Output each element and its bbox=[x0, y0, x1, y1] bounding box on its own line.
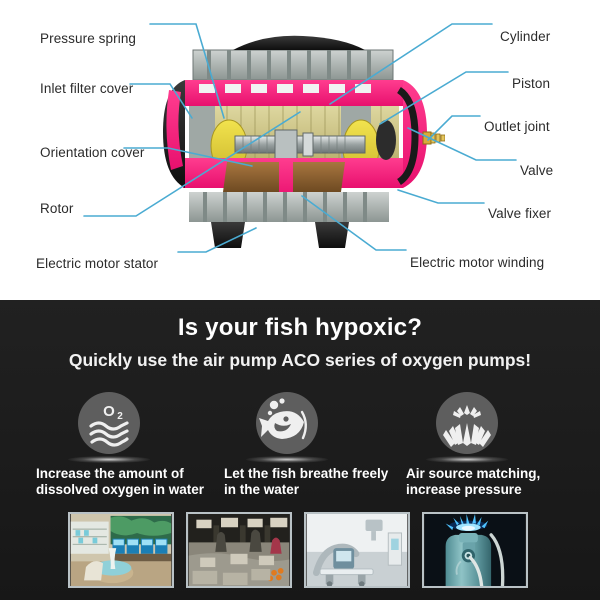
application-photo-strip bbox=[0, 512, 600, 600]
feature-icon-wrap bbox=[208, 392, 393, 462]
diagram-label-electric-motor-winding: Electric motor winding bbox=[410, 256, 544, 270]
icon-reflection bbox=[246, 456, 328, 463]
o2-water-waves-icon: O 2 bbox=[78, 392, 140, 454]
feature-list: O 2 Increase the amount of dissolved oxy… bbox=[0, 392, 600, 502]
promo-headline: Is your fish hypoxic? bbox=[0, 314, 600, 342]
product-infographic: Pressure spring Inlet filter cover Orien… bbox=[0, 0, 600, 600]
diagram-label-rotor: Rotor bbox=[40, 202, 74, 216]
feature-item-air-pressure: Air source matching, increase pressure bbox=[400, 392, 585, 462]
feature-text-dissolved-oxygen: Increase the amount of dissolved oxygen … bbox=[36, 466, 211, 499]
svg-text:O: O bbox=[103, 403, 115, 420]
icon-reflection bbox=[426, 456, 508, 463]
diagram-label-valve-fixer: Valve fixer bbox=[488, 207, 551, 221]
feature-text-fish-breathe: Let the fish breathe freely in the water bbox=[224, 466, 399, 499]
gas-cylinder-photo bbox=[422, 512, 528, 588]
pump-diagram-section: Pressure spring Inlet filter cover Orien… bbox=[0, 0, 600, 300]
feature-text-air-pressure: Air source matching, increase pressure bbox=[406, 466, 586, 499]
feature-icon-wrap bbox=[400, 392, 585, 462]
promo-subheadline: Quickly use the air pump ACO series of o… bbox=[0, 350, 600, 371]
promo-section: Is your fish hypoxic? Quickly use the ai… bbox=[0, 300, 600, 600]
diagram-label-orientation-cover: Orientation cover bbox=[40, 146, 145, 160]
diagram-label-pressure-spring: Pressure spring bbox=[40, 32, 136, 46]
fish-bubbles-icon bbox=[256, 392, 318, 454]
fish-market-photo bbox=[186, 512, 292, 588]
diagram-label-cylinder: Cylinder bbox=[500, 30, 550, 44]
medical-equipment-photo bbox=[304, 512, 410, 588]
aquarium-shop-photo bbox=[68, 512, 174, 588]
diagram-label-outlet-joint: Outlet joint bbox=[484, 120, 550, 134]
icon-reflection bbox=[68, 456, 150, 463]
feature-item-fish-breathe: Let the fish breathe freely in the water bbox=[208, 392, 393, 462]
diagram-label-valve: Valve bbox=[520, 164, 553, 178]
svg-text:2: 2 bbox=[117, 411, 123, 422]
diagram-label-piston: Piston bbox=[512, 77, 550, 91]
feature-item-dissolved-oxygen: O 2 Increase the amount of dissolved oxy… bbox=[22, 392, 207, 462]
diagram-label-electric-motor-stator: Electric motor stator bbox=[36, 257, 158, 271]
feature-icon-wrap: O 2 bbox=[22, 392, 207, 462]
air-burst-pressure-icon bbox=[436, 392, 498, 454]
diagram-label-inlet-filter-cover: Inlet filter cover bbox=[40, 82, 133, 96]
